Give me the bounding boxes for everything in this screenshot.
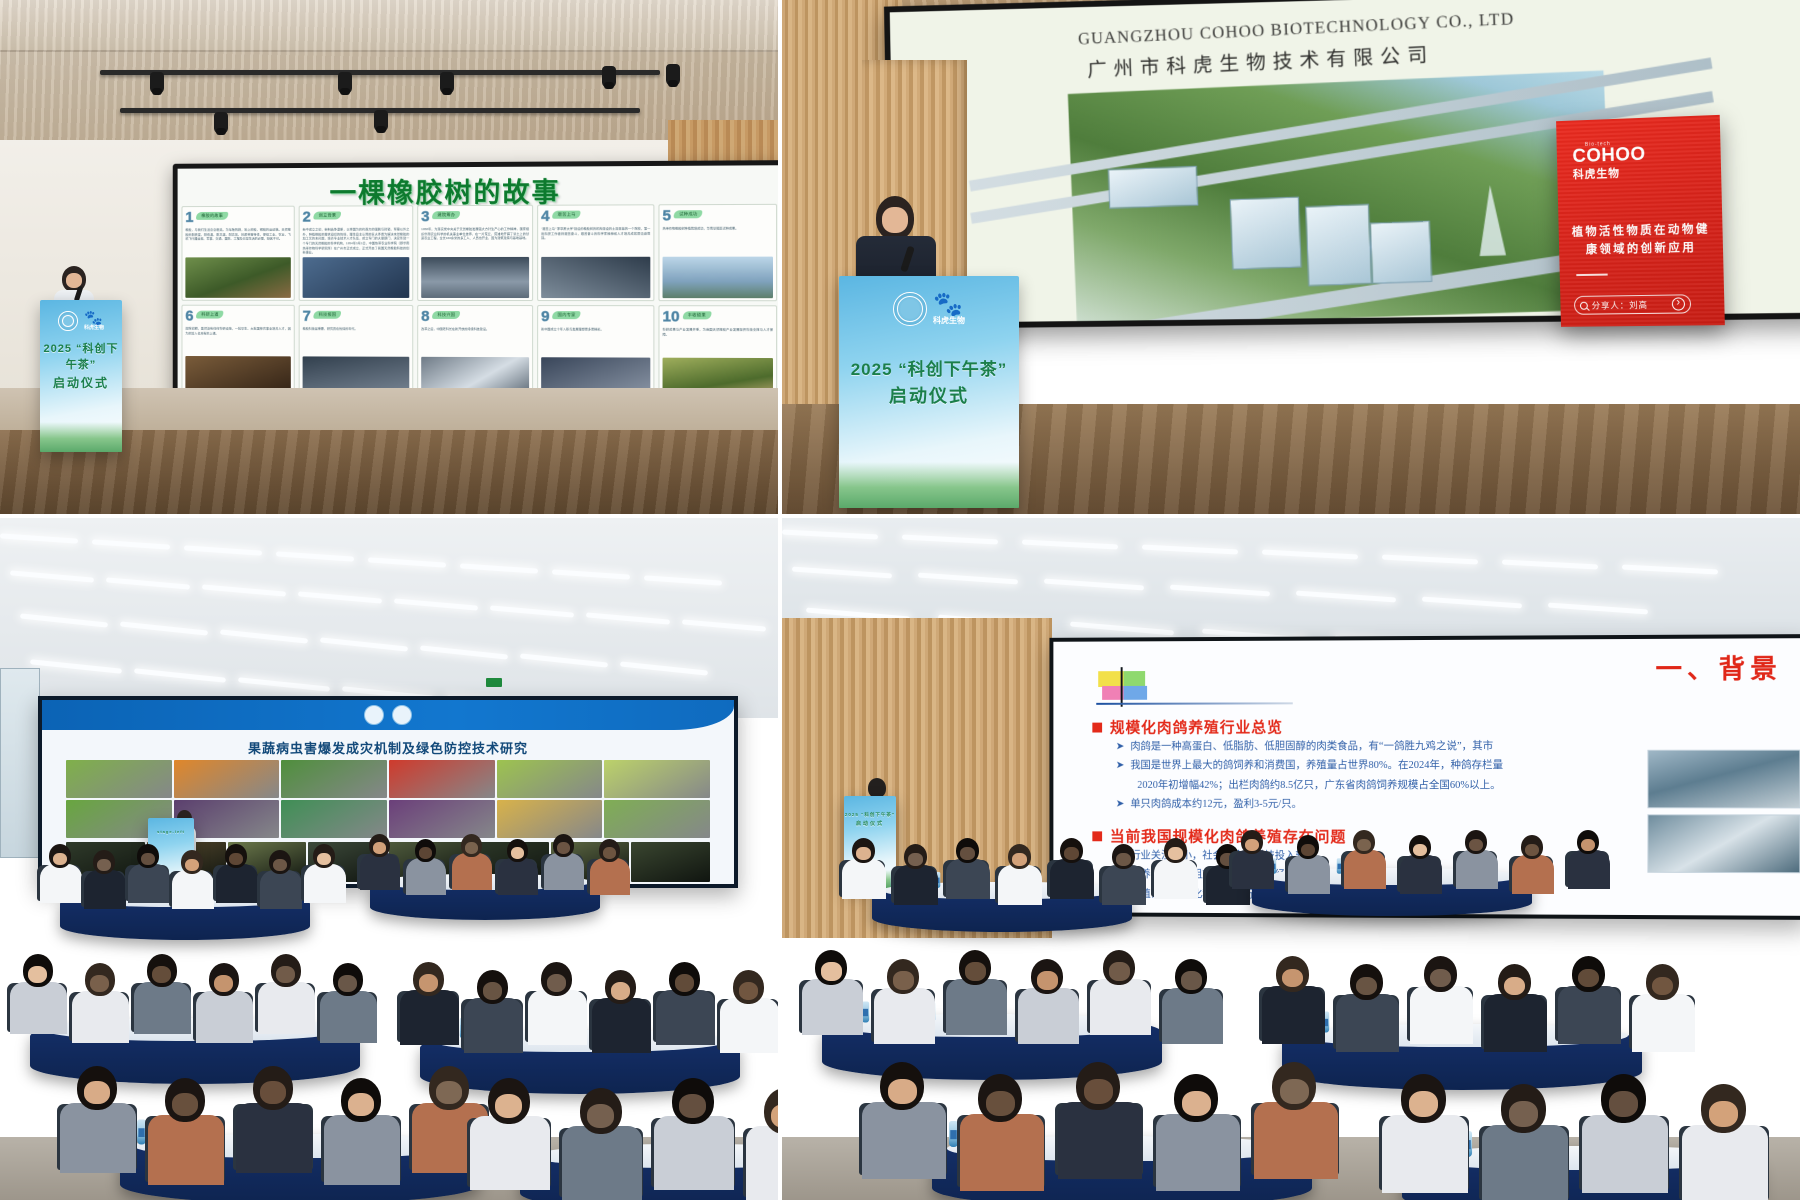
audience-head	[461, 834, 482, 857]
audience-torso	[84, 870, 126, 908]
audience-face	[965, 962, 985, 980]
audience-torso	[1632, 994, 1695, 1052]
light-track-1	[100, 70, 660, 75]
audience-torso	[1232, 850, 1274, 888]
audience-face	[1509, 1101, 1538, 1126]
audience-torso	[498, 858, 538, 895]
audience-torso	[258, 982, 315, 1035]
audience-member	[1154, 838, 1198, 896]
audience-head	[1601, 1074, 1646, 1123]
audience-face	[1652, 977, 1673, 996]
podium-green-graphic	[40, 422, 122, 452]
audience-torso	[1288, 855, 1330, 893]
story-card: 7科技报国橡胶科技是重要、研究员在热情的年代。	[299, 305, 414, 401]
audience-head	[669, 962, 700, 996]
audience-face	[152, 966, 171, 983]
block-1-heading: 规模化肉鸽养殖行业总览	[1092, 715, 1788, 737]
company-name-en: GUANGZHOU COHOO BIOTECHNOLOGY CO., LTD	[1077, 9, 1514, 49]
audience-member	[400, 962, 459, 1040]
speaker-head	[868, 778, 886, 798]
audience-member	[1456, 830, 1498, 885]
header-logo-row	[42, 700, 734, 725]
audience-torso	[60, 1103, 136, 1173]
slide-section-title: 一、背景	[1656, 648, 1782, 686]
audience-member	[1482, 1084, 1568, 1197]
audience-torso	[10, 982, 67, 1035]
audience-member	[1568, 830, 1610, 885]
story-card: 3建院筹办1958年，为落实党中央关于天然橡胶发展强大方针生产心的工作精神，国家…	[417, 205, 533, 301]
story-card-image	[663, 256, 773, 298]
audience-face	[141, 853, 155, 865]
audience-head	[1701, 1084, 1746, 1133]
panel-top-left: 一棵橡胶树的故事 1橡胶的故事橡胶，与我们生活息息相关。为车胎到鞋，地上的胶、钢…	[0, 0, 782, 518]
building-2	[1230, 197, 1302, 270]
audience-head	[1498, 964, 1531, 1000]
audience-torso	[260, 870, 302, 908]
panel-bottom-right: 一、背景 规模化肉鸽养殖行业总览 ➤ 肉鸽是一种	[782, 518, 1800, 1200]
audience-face	[547, 974, 567, 992]
audience-member	[148, 1078, 224, 1179]
story-card-tag: 丰收硕果	[683, 311, 712, 319]
podium-green-graphic	[839, 462, 1019, 508]
audience-torso	[802, 979, 863, 1035]
audience-face	[1709, 1101, 1738, 1126]
audience-head	[1272, 1062, 1316, 1110]
audience-member	[1382, 1074, 1468, 1187]
slide-title: 果蔬病虫害爆发成灾机制及绿色防控技术研究	[42, 738, 734, 757]
story-card-tag: 建院筹办	[432, 211, 460, 219]
audience-face	[986, 1091, 1014, 1116]
talk-title: 植物活性物质在动物健 康领域的创新应用	[1571, 221, 1711, 260]
divider	[1576, 274, 1607, 277]
podium-logos: 🐾科虎生物	[839, 276, 1019, 326]
story-card-text: 橡胶，与我们生活息息相关。为车胎到鞋，地上的胶、钢胶的运动鞋。天然橡胶的耐磨度、…	[185, 228, 290, 242]
audience-torso	[304, 864, 346, 902]
story-card: 8科技兴国改革之后，中国老科长在新开放的持续科技建设。	[417, 305, 533, 401]
audience-member	[1558, 956, 1621, 1039]
audience-head	[1060, 838, 1083, 863]
audience-face	[419, 847, 432, 859]
audience-head	[225, 844, 247, 868]
audience-torso	[1558, 986, 1621, 1044]
story-card-text: 科研成果与产业发展并重，为我国天然橡胶产业发展提供科技支撑与人才保障。	[663, 327, 773, 337]
audience-member	[562, 1088, 642, 1194]
audience-torso	[1050, 859, 1094, 899]
audience-face	[1413, 844, 1427, 856]
audience-member	[236, 1066, 312, 1167]
audience-face	[511, 847, 524, 859]
story-card-number: 9	[541, 308, 549, 325]
podium-title: 2025 “科创下午茶” 启动仪式	[40, 340, 122, 391]
audience-torso	[216, 864, 258, 902]
audience-face	[28, 966, 47, 983]
audience-member	[544, 834, 584, 887]
audience-head	[77, 1066, 117, 1110]
audience-face	[557, 842, 570, 854]
vegetable-image	[604, 760, 710, 798]
audience-torso	[1156, 1114, 1240, 1191]
arrow-right-icon	[1672, 297, 1685, 310]
story-card-text: 橡胶科技是重要、研究员在热情的年代。	[303, 327, 410, 332]
audience-face	[1504, 977, 1525, 996]
audience-face	[739, 982, 759, 1000]
audience-member	[10, 954, 67, 1030]
audience-member	[40, 844, 82, 899]
spotlight-6	[214, 112, 228, 134]
spotlight-7	[374, 110, 388, 132]
audience-torso	[590, 858, 630, 895]
audience-member	[1232, 830, 1274, 885]
audience-member	[260, 850, 302, 905]
audience-face	[317, 853, 331, 865]
audience-head	[1276, 956, 1309, 992]
audience-member	[946, 838, 990, 896]
audience-torso	[400, 990, 459, 1044]
audience-face	[1109, 962, 1129, 980]
audience-torso	[72, 991, 129, 1044]
story-card-tag: 橡胶的故事	[196, 212, 228, 220]
building-3	[1305, 204, 1373, 286]
audience-face	[273, 859, 287, 871]
vegetable-image	[174, 760, 280, 798]
spotlight-1	[150, 72, 164, 94]
ceiling-panel	[0, 0, 778, 52]
audience-member	[946, 950, 1007, 1031]
audience-member	[960, 1074, 1044, 1184]
deco-hline	[1096, 702, 1293, 704]
audience-face	[172, 1093, 198, 1116]
academy-seal-icon	[893, 292, 927, 326]
audience-member	[464, 970, 523, 1048]
audience-member	[1288, 835, 1330, 890]
audience-member	[862, 1062, 946, 1172]
story-card-number: 8	[421, 308, 429, 325]
slide-header-band	[42, 700, 734, 730]
story-card-text: 建院初期，虽然没有任何科研设施，一批毕生、大批国棉农事业培养人才，因为的加入也未…	[185, 326, 290, 335]
audience-face	[419, 974, 439, 992]
audience-head	[541, 962, 572, 996]
audience-torso	[1018, 988, 1079, 1044]
vegetable-image	[281, 760, 387, 798]
audience-member	[128, 844, 170, 899]
audience-member	[72, 963, 129, 1039]
audience-head	[1174, 1074, 1218, 1122]
audience-head	[429, 1066, 469, 1110]
audience-torso	[1254, 1102, 1338, 1179]
story-card-tag: 国内专家	[553, 311, 581, 319]
audience-member	[590, 839, 630, 892]
story-card-text: 改革之后，中国老科长在新开放的持续科技建设。	[421, 327, 529, 332]
audience-face	[888, 1079, 916, 1104]
audience-face	[679, 1094, 706, 1118]
audience-face	[1609, 1091, 1638, 1116]
audience-head	[341, 1078, 381, 1122]
audience-head	[1350, 964, 1383, 1000]
audience-face	[587, 1104, 614, 1128]
exit-sign-icon	[486, 678, 502, 687]
audience-head	[1521, 835, 1543, 859]
audience-face	[893, 971, 913, 989]
spotlight-5	[666, 64, 680, 86]
audience-torso	[196, 991, 253, 1044]
audience-torso	[1262, 986, 1325, 1044]
story-card-number: 3	[421, 208, 429, 225]
cohoo-logo: Bio-tech COHOO 科虎生物	[1572, 140, 1646, 182]
vegetable-image	[66, 760, 172, 798]
audience-head	[1112, 844, 1135, 869]
audience-member	[1254, 1062, 1338, 1172]
audience-torso	[720, 998, 778, 1052]
audience-torso	[746, 1126, 778, 1200]
campus-aerial-photo	[1067, 70, 1613, 326]
deco-square-blue	[1124, 686, 1147, 700]
audience-head	[1465, 830, 1487, 854]
audience-face	[1037, 971, 1057, 989]
story-card-image	[303, 257, 410, 298]
audience-head	[1353, 830, 1375, 854]
academy-seal-left-icon	[364, 705, 384, 725]
presenter-pill: 分享人：刘高	[1574, 294, 1691, 315]
audience-torso	[452, 853, 492, 890]
audience-member	[894, 844, 938, 902]
vegetable-image	[389, 760, 495, 798]
spotlight-2	[338, 72, 352, 94]
podium-title-line1: 2025 “科创下午茶”	[40, 340, 122, 372]
presenter-label: 分享人：刘高	[1592, 298, 1649, 311]
arrow-bullet-icon: ➤	[1116, 737, 1125, 756]
audience-face	[1525, 844, 1539, 856]
audience-head	[1297, 835, 1319, 859]
audience-face	[436, 1081, 462, 1104]
bullet-square-icon	[1092, 722, 1102, 732]
audience-head	[181, 850, 203, 874]
tiger-mark-icon: 🐾科虎生物	[84, 311, 104, 331]
audience-torso	[148, 1115, 224, 1185]
arrow-bullet-icon: ➤	[1116, 757, 1125, 776]
audience-head	[1164, 838, 1187, 863]
audience-face	[1409, 1091, 1438, 1116]
ceiling	[0, 0, 778, 150]
story-card: 4艰苦上马“艰苦上马”“茅草屋大学”建设的橡胶树的机构建设的土建置基的一个院校，…	[537, 204, 654, 301]
audience-member	[498, 839, 538, 892]
audience-face	[1012, 853, 1027, 866]
audience-head	[904, 844, 927, 869]
logo-biotech-text: Bio-tech	[1585, 140, 1646, 148]
audience-member	[258, 954, 315, 1030]
audience-torso	[544, 853, 584, 890]
slide-red-title-panel: Bio-tech COHOO 科虎生物 植物活性物质在动物健 康领域的创新应用 …	[1556, 115, 1725, 327]
building-1	[1107, 166, 1198, 209]
audience-face	[483, 982, 503, 1000]
audience-torso	[656, 990, 715, 1044]
audience-head	[165, 1078, 205, 1122]
story-card-image	[421, 257, 529, 298]
talk-title-line2: 康领域的创新应用	[1572, 239, 1711, 260]
academy-seal-icon	[58, 311, 78, 331]
audience-torso	[1484, 994, 1547, 1052]
audience-torso	[1568, 850, 1610, 888]
audience-face	[908, 853, 923, 866]
audience-face	[1357, 839, 1371, 851]
audience-head	[1008, 844, 1031, 869]
audience-face	[53, 853, 67, 865]
audience-face	[1084, 1079, 1112, 1104]
audience-torso	[1154, 859, 1198, 899]
audience-head	[1401, 1074, 1446, 1123]
audience-head	[852, 838, 875, 863]
audience-face	[1245, 839, 1259, 851]
story-card-text: “艰苦上马”“茅草屋大学”建设的橡胶树的机构建设的土建置基的一个院校，第一批科研…	[541, 227, 650, 241]
audience-head	[605, 970, 636, 1004]
thumbnail-pigeon-house	[1647, 750, 1800, 809]
audience-torso	[894, 865, 938, 905]
audience-head	[269, 850, 291, 874]
audience-member	[528, 962, 587, 1040]
audience-member	[1400, 835, 1442, 890]
audience-face	[1182, 1091, 1210, 1116]
audience-head	[1076, 1062, 1120, 1110]
story-card-text: 新中成立之初，新制品争垄断，以举国为的约西方的围剿与封锁，军需以外之外，种植橡胶…	[303, 227, 410, 255]
audience-face	[1280, 1079, 1308, 1104]
audience-member	[1682, 1084, 1768, 1197]
podium-title-line2: 启动仪式	[40, 374, 122, 391]
vegetable-image	[497, 760, 603, 798]
story-card-tag: 科研上道	[196, 311, 223, 319]
audience-torso	[592, 998, 651, 1052]
audience-torso	[320, 991, 377, 1044]
audience-face	[1356, 977, 1377, 996]
audience-torso	[406, 858, 446, 895]
audience-head	[477, 970, 508, 1004]
panel-bottom-left: 果蔬病虫害爆发成灾机制及绿色防控技术研究 stage-left	[0, 518, 782, 1200]
audience-face	[276, 966, 295, 983]
audience-member	[592, 970, 651, 1048]
speaker-face	[882, 207, 908, 233]
audience-head	[49, 844, 71, 868]
audience-torso	[946, 859, 990, 899]
audience-member	[1018, 959, 1079, 1040]
audience-head	[599, 839, 620, 862]
audience-torso	[134, 982, 191, 1035]
tiger-mark-icon: 🐾科虎生物	[933, 293, 965, 325]
audience-head	[978, 1074, 1022, 1122]
story-card-tag: 科技报国	[314, 311, 342, 319]
story-panel-grid: 1橡胶的故事橡胶，与我们生活息息相关。为车胎到鞋，地上的胶、钢胶的运动鞋。天然橡…	[181, 204, 777, 403]
audience-face	[1581, 839, 1595, 851]
audience-torso	[946, 979, 1007, 1035]
audience-face	[348, 1093, 374, 1116]
audience-head	[93, 850, 115, 874]
presentation-screen: 一棵橡胶树的故事 1橡胶的故事橡胶，与我们生活息息相关。为车胎到鞋，地上的胶、钢…	[173, 160, 778, 410]
audience-head	[313, 844, 335, 868]
audience-torso	[562, 1126, 642, 1200]
audience-member	[1632, 964, 1695, 1047]
audience-head	[488, 1078, 530, 1124]
audience-head	[137, 844, 159, 868]
story-card: 1橡胶的故事橡胶，与我们生活息息相关。为车胎到鞋，地上的胶、钢胶的运动鞋。天然橡…	[181, 206, 294, 301]
photo-collage: 一棵橡胶树的故事 1橡胶的故事橡胶，与我们生活息息相关。为车胎到鞋，地上的胶、钢…	[0, 0, 1800, 1200]
audience-face	[1469, 839, 1483, 851]
podium-title-line2: 启动仪式	[839, 382, 1019, 408]
audience-member	[656, 962, 715, 1040]
audience-head	[1424, 956, 1457, 992]
logo-name-text: COHOO	[1572, 146, 1646, 165]
audience-face	[1064, 847, 1079, 860]
story-card-number: 1	[185, 209, 193, 226]
audience-head	[1577, 830, 1599, 854]
audience-face	[1168, 847, 1183, 860]
audience-face	[603, 847, 616, 859]
audience-head	[733, 970, 764, 1004]
audience-member	[1344, 830, 1386, 885]
audience-torso	[1090, 979, 1151, 1035]
story-card-tag: 试种成功	[674, 210, 703, 218]
audience-torso	[842, 859, 886, 899]
audience-face	[373, 842, 386, 854]
audience-torso	[464, 998, 523, 1052]
audience-member	[470, 1078, 550, 1184]
audience-torso	[1400, 855, 1442, 893]
audience-torso	[1344, 850, 1386, 888]
spotlight-4	[602, 66, 616, 88]
audience-member	[1582, 1074, 1668, 1187]
audience-head	[369, 834, 390, 857]
audience-head	[956, 838, 979, 863]
audience-torso	[1410, 986, 1473, 1044]
story-card: 6科研上道建院初期，虽然没有任何科研设施，一批毕生、大批国棉农事业培养人才，因为…	[181, 305, 294, 400]
audience-head	[815, 950, 847, 985]
audience-member	[1162, 959, 1223, 1040]
audience-member	[60, 1066, 136, 1167]
audience-member	[1090, 950, 1151, 1031]
audience-head	[1241, 830, 1263, 854]
audience-torso	[1058, 1102, 1142, 1179]
audience-torso	[172, 870, 214, 908]
story-card-text: 热带作物橡胶树种植栽培成功，华南垦殖区试种成果。	[663, 226, 773, 231]
audience-torso	[654, 1116, 734, 1190]
audience-head	[880, 1062, 924, 1110]
story-card-number: 5	[663, 207, 671, 224]
audience-head	[1103, 950, 1135, 985]
story-card: 2创立背景新中成立之初，新制品争垄断，以举国为的约西方的围剿与封锁，军需以外之外…	[299, 205, 414, 301]
audience-face	[495, 1094, 522, 1118]
audience-member	[1410, 956, 1473, 1039]
audience-torso	[874, 988, 935, 1044]
search-icon	[1580, 301, 1588, 309]
audience-head	[507, 839, 528, 862]
audience-face	[675, 974, 695, 992]
building-4	[1370, 220, 1432, 284]
audience-torso	[1336, 994, 1399, 1052]
spotlight-3	[440, 72, 454, 94]
decorative-squares	[1098, 671, 1153, 707]
podium-title: 2025 “科创下午茶” 启动仪式	[839, 355, 1019, 408]
audience-member	[1336, 964, 1399, 1047]
audience-member	[406, 839, 446, 892]
audience-member	[320, 963, 377, 1039]
audience-member	[196, 963, 253, 1039]
audience-member	[802, 950, 863, 1031]
talk-title-line1: 植物活性物质在动物健	[1571, 221, 1710, 242]
audience-member	[1512, 835, 1554, 890]
audience-face	[611, 982, 631, 1000]
podium-top-right: 🐾科虎生物 2025 “科创下午茶” 启动仪式	[839, 276, 1019, 508]
audience-head	[959, 950, 991, 985]
audience-face	[84, 1081, 110, 1104]
audience-member	[654, 1078, 734, 1184]
audience-member	[452, 834, 492, 887]
audience-member	[874, 959, 935, 1040]
